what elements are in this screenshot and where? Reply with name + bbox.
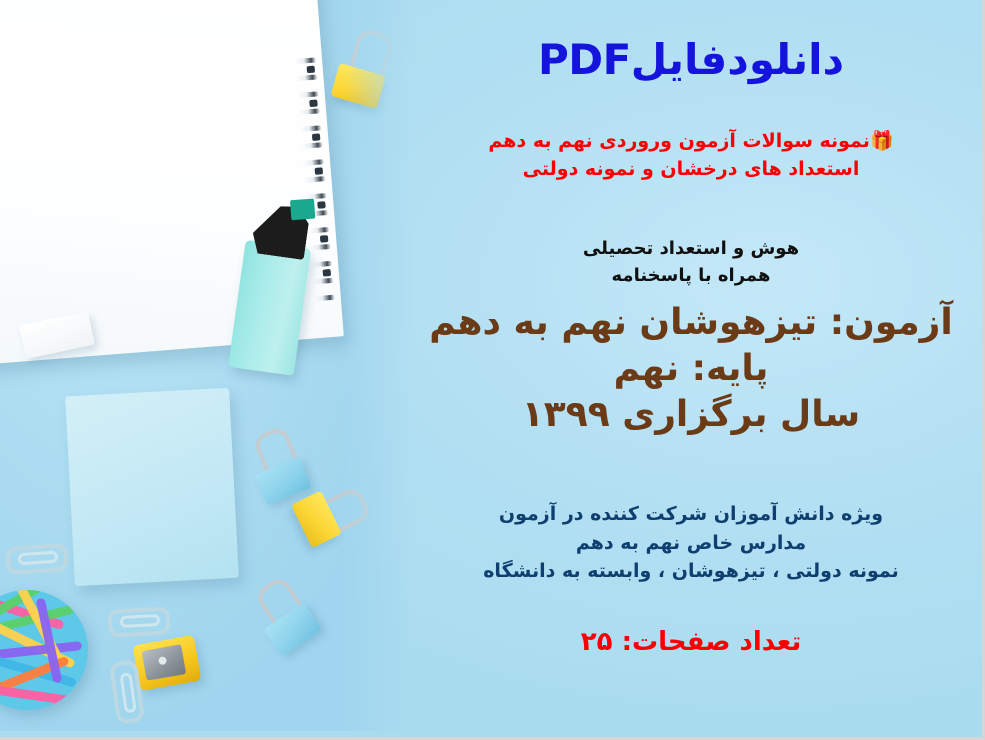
paper-clip-icon: [107, 606, 170, 637]
paper-clip-icon: [5, 543, 69, 575]
exam-heading-line-1: آزمون: تیزهوشان نهم به دهم: [400, 300, 982, 346]
gift-icon: 🎁: [870, 130, 894, 152]
light-blue-notebook-icon: [65, 388, 239, 586]
promo-text-block: 🎁نمونه سوالات آزمون وروردی نهم به دهم اس…: [400, 128, 982, 183]
presentation-slide: دانلودفایلPDF 🎁نمونه سوالات آزمون وروردی…: [0, 0, 985, 740]
exam-heading-line-2: پایه: نهم: [400, 346, 982, 392]
audience-line-3: نمونه دولتی ، تیزهوشان ، وابسته به دانشگ…: [400, 557, 982, 586]
slide-text-column: دانلودفایلPDF 🎁نمونه سوالات آزمون وروردی…: [400, 0, 982, 737]
page-count-text: تعداد صفحات: ۲۵: [400, 627, 982, 657]
audience-text-block: ویژه دانش آموزان شرکت کننده در آزمون مدا…: [400, 500, 982, 586]
highlighter-tip: [290, 199, 315, 221]
promo-line-1-row: 🎁نمونه سوالات آزمون وروردی نهم به دهم: [400, 128, 982, 156]
slide-title: دانلودفایلPDF: [400, 38, 982, 82]
subject-text-block: هوش و استعداد تحصیلی همراه با پاسخنامه: [400, 235, 982, 289]
audience-line-1: ویژه دانش آموزان شرکت کننده در آزمون: [400, 500, 982, 529]
exam-heading-block: آزمون: تیزهوشان نهم به دهم پایه: نهم سال…: [400, 300, 982, 438]
stationery-flatlay-photo: [0, 0, 410, 731]
audience-line-2: مدارس خاص نهم به دهم: [400, 529, 982, 558]
subject-line-2: همراه با پاسخنامه: [400, 262, 982, 289]
subject-line-1: هوش و استعداد تحصیلی: [400, 235, 982, 262]
promo-line-2: استعداد های درخشان و نمونه دولتی: [400, 156, 982, 184]
promo-line-1: نمونه سوالات آزمون وروردی نهم به دهم: [488, 130, 870, 152]
exam-heading-line-3: سال برگزاری ۱۳۹۹: [400, 392, 982, 438]
